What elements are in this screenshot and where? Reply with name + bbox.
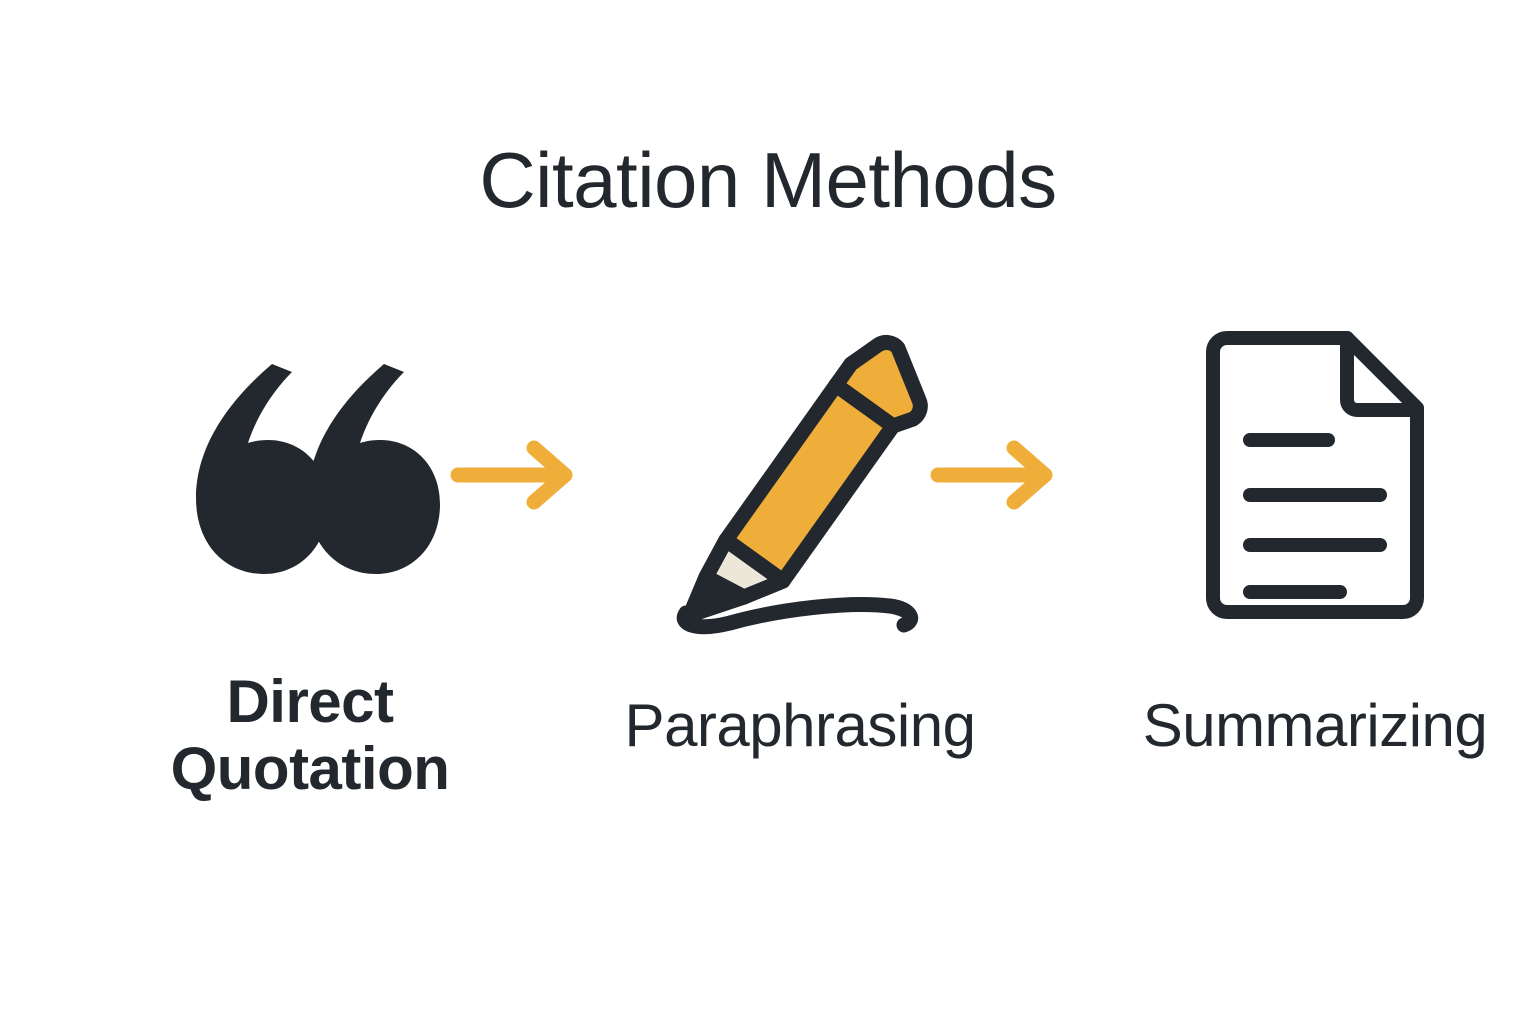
step-label-paraphrasing: Paraphrasing: [565, 692, 1035, 759]
document-lines-icon-wrap: [1050, 310, 1536, 640]
arrow-right-icon: [450, 440, 580, 510]
step-label-summarizing: Summarizing: [1050, 692, 1536, 759]
step-label-direct-quotation: DirectQuotation: [110, 668, 510, 802]
arrow-right-icon: [930, 440, 1060, 510]
step-label-line-2: Quotation: [171, 735, 450, 802]
document-lines-icon: [1195, 330, 1435, 620]
page-title: Citation Methods: [0, 138, 1536, 222]
pencil-writing-icon: [650, 325, 950, 625]
connector-arrow-2: [930, 440, 1070, 520]
step-direct-quotation[interactable]: DirectQuotation: [110, 320, 510, 840]
step-summarizing[interactable]: Summarizing: [1050, 320, 1536, 840]
quotation-marks-icon: [180, 358, 440, 583]
step-label-line-1: Direct: [226, 668, 393, 735]
citation-methods-infographic: Citation Methods DirectQuotation: [0, 0, 1536, 1024]
step-paraphrasing[interactable]: Paraphrasing: [565, 320, 1035, 840]
process-flow: DirectQuotation: [110, 320, 1450, 840]
